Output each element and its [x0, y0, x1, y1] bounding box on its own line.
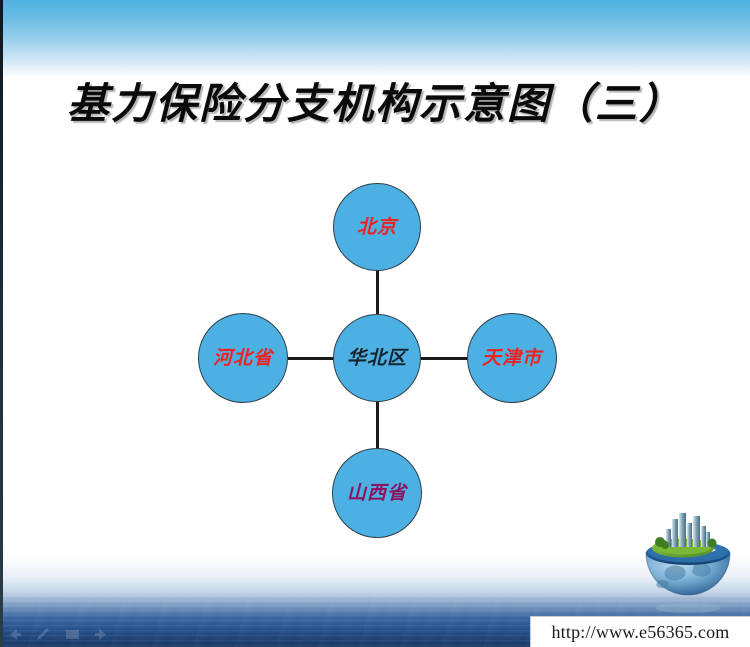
slideshow-toolbar[interactable]: [6, 627, 110, 642]
watermark-url-box: http://www.e56365.com: [530, 616, 750, 647]
node-shanxi-label: 山西省: [347, 484, 407, 503]
presentation-slide: 基力保险分支机构示意图（三） 北京 河北省 华北区 天津市 山西省: [0, 0, 750, 647]
back-arrow-icon[interactable]: [6, 627, 23, 642]
node-tianjin-label: 天津市: [482, 349, 542, 368]
node-beijing-label: 北京: [357, 218, 397, 237]
connector-center-to-east: [421, 357, 467, 360]
node-hebei-label: 河北省: [213, 349, 273, 368]
node-shanxi[interactable]: 山西省: [332, 448, 422, 538]
node-huabeiqu[interactable]: 华北区: [333, 314, 421, 402]
pen-icon[interactable]: [35, 627, 52, 642]
slide-left-edge-stripe: [0, 0, 3, 647]
node-beijing[interactable]: 北京: [333, 183, 421, 271]
connector-center-to-west: [288, 357, 333, 360]
watermark-url: http://www.e56365.com: [551, 622, 729, 643]
connector-center-to-north: [376, 270, 379, 314]
page-title: 基力保险分支机构示意图（三）: [0, 70, 750, 131]
slide-icon[interactable]: [64, 627, 81, 642]
forward-arrow-icon[interactable]: [93, 627, 110, 642]
globe-city-logo: [636, 507, 740, 615]
node-hebei[interactable]: 河北省: [198, 313, 288, 403]
connector-center-to-south: [376, 402, 379, 449]
node-huabeiqu-label: 华北区: [347, 349, 407, 368]
node-tianjin[interactable]: 天津市: [467, 313, 557, 403]
